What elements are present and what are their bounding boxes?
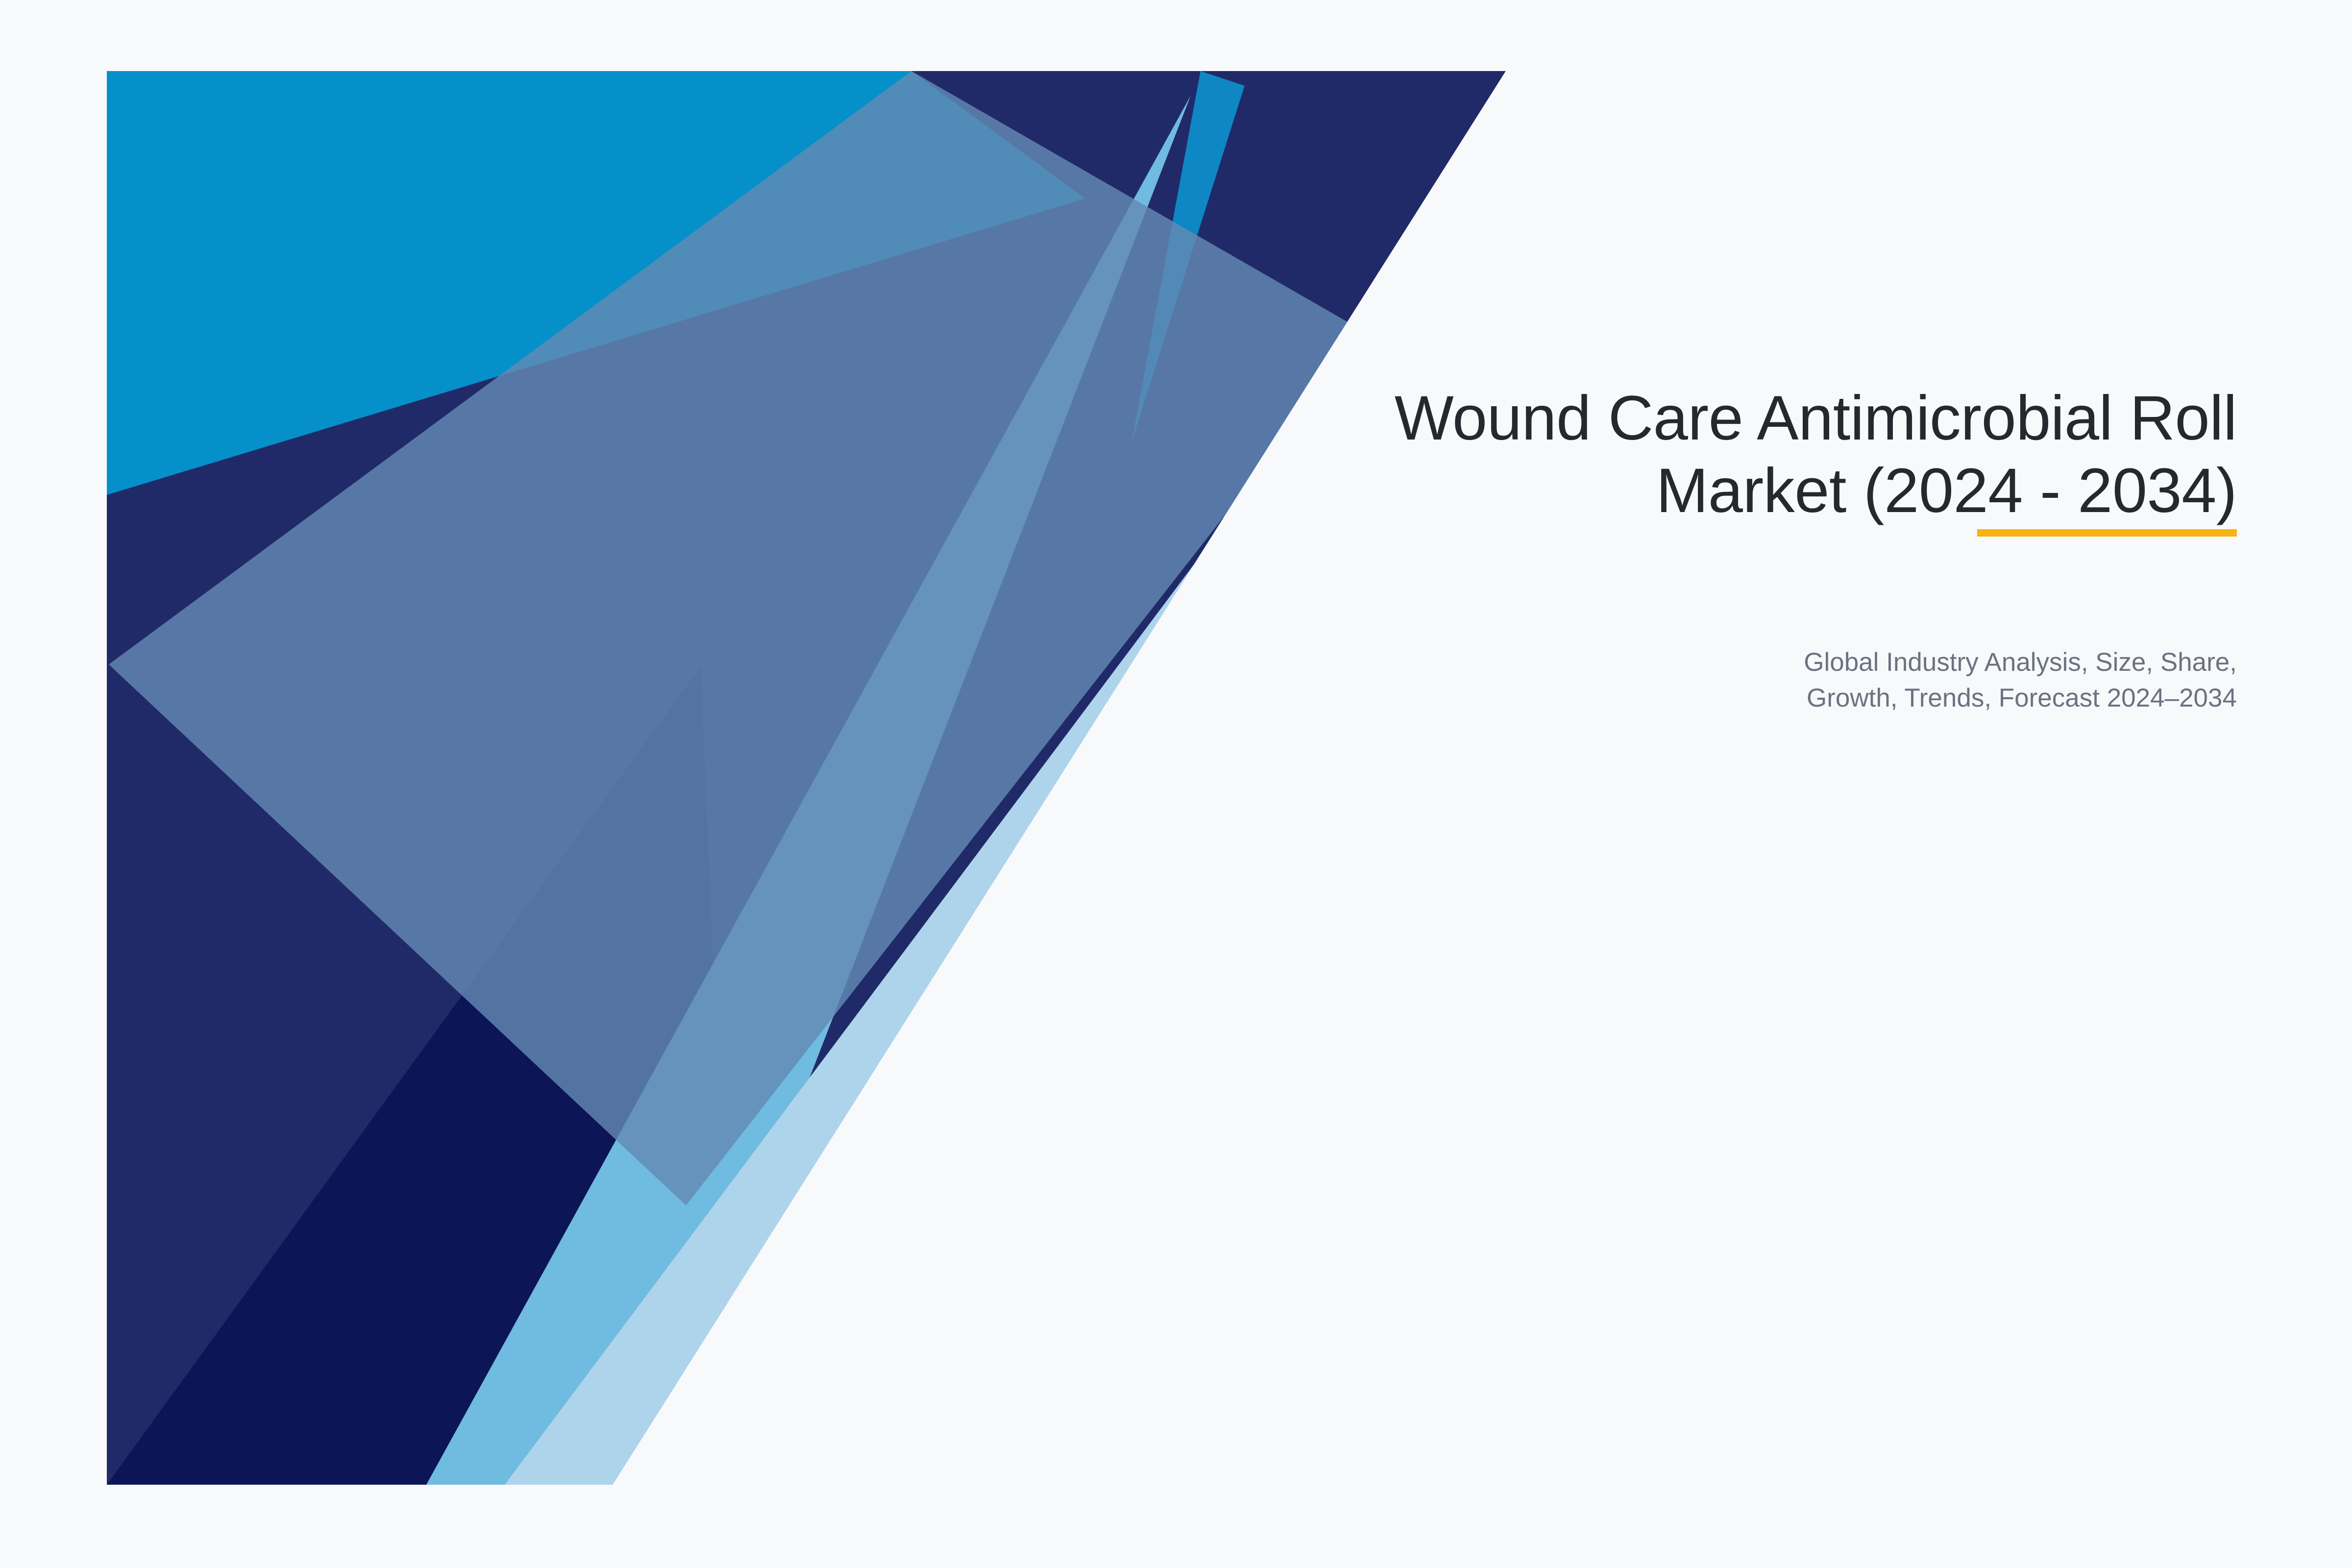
page-title: Wound Care Antimicrobial Roll Market (20… <box>1051 382 2237 528</box>
title-block: Wound Care Antimicrobial Roll Market (20… <box>1051 382 2237 528</box>
title-accent-underline <box>1977 529 2237 537</box>
page-subtitle: Global Industry Analysis, Size, Share, G… <box>1551 644 2237 716</box>
geometric-cover-artwork <box>0 0 2352 1568</box>
report-cover: Wound Care Antimicrobial Roll Market (20… <box>0 0 2352 1568</box>
